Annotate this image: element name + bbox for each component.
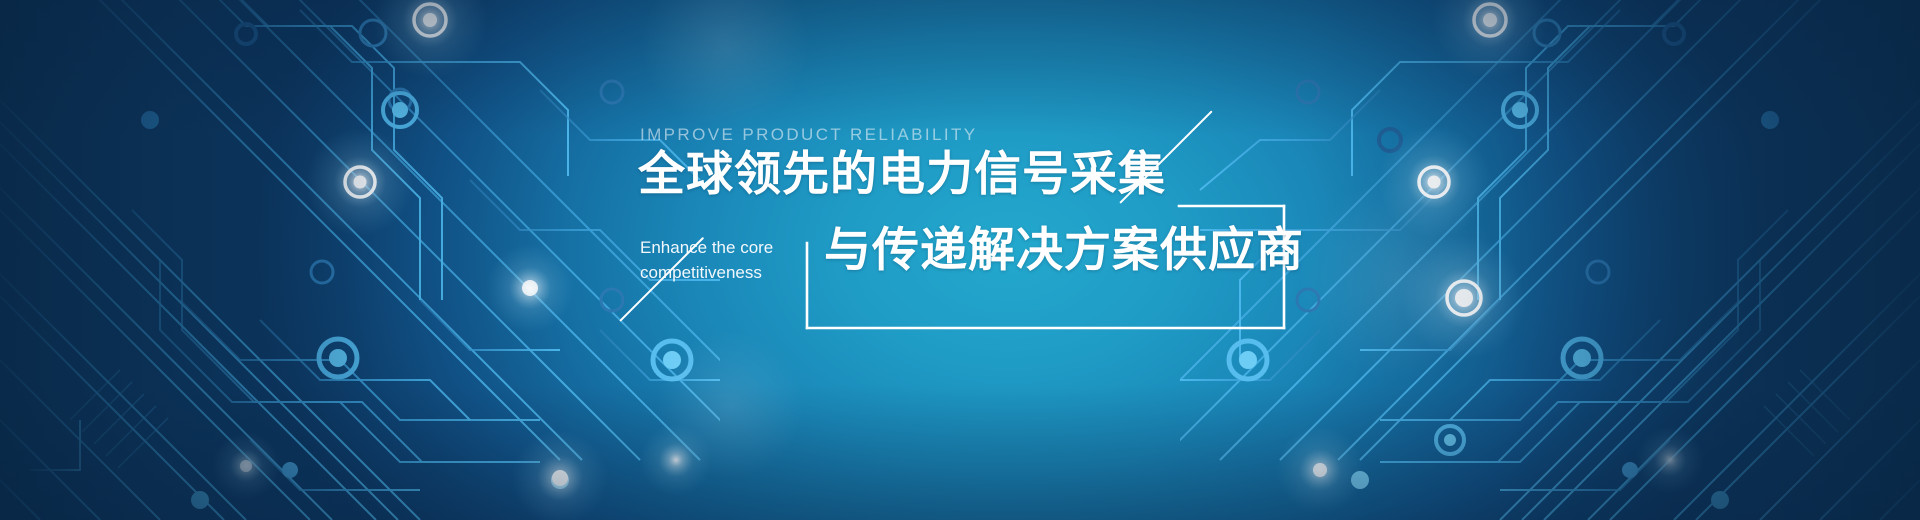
- hero-banner: IMPROVE PRODUCT RELIABILITY 全球领先的电力信号采集 …: [0, 0, 1920, 520]
- headline-line-1: 全球领先的电力信号采集: [638, 150, 1166, 197]
- headline-line-2: 与传递解决方案供应商: [824, 226, 1304, 273]
- eyebrow-text: IMPROVE PRODUCT RELIABILITY: [640, 125, 978, 145]
- subtitle-line-1: Enhance the core: [640, 238, 773, 257]
- hero-copy-block: IMPROVE PRODUCT RELIABILITY 全球领先的电力信号采集 …: [640, 120, 1340, 350]
- subtitle-line-2: competitiveness: [640, 263, 762, 282]
